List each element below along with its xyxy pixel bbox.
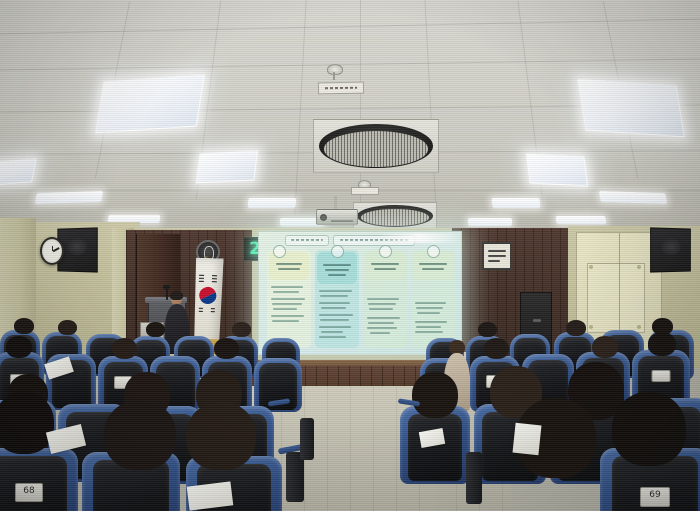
- wall-speaker-icon: [650, 227, 691, 272]
- ac-diffuser-icon: [353, 202, 437, 230]
- ceiling-light-panel: [526, 154, 588, 187]
- projection-screen: projected presentation slide: [258, 231, 462, 355]
- wall-clock-icon: [40, 237, 64, 265]
- projector-mount: [334, 196, 337, 210]
- slide-tab-1: [285, 235, 329, 246]
- attendee: [146, 322, 165, 337]
- attendee: [648, 332, 676, 356]
- attendee: [6, 336, 32, 358]
- ceiling-light-panel: [491, 198, 540, 208]
- ceiling: suspended panel ceiling: [0, 0, 700, 245]
- ceiling-light-panel: [468, 218, 512, 226]
- ceiling-label: suspended panel ceiling: [0, 0, 1, 1]
- slide-column-2: [315, 250, 359, 348]
- attendee: [112, 338, 137, 359]
- seat[interactable]: 68: [0, 448, 78, 511]
- seat-number-plate: 68: [15, 483, 43, 502]
- attendee: [592, 336, 618, 358]
- projector-icon: [316, 209, 358, 225]
- framed-wall-sign: [482, 242, 512, 270]
- lecture-hall-photo: suspended panel ceiling: [0, 0, 700, 511]
- ceiling-light-panel: [0, 158, 37, 186]
- attendee: [104, 400, 176, 470]
- attendee: [232, 322, 251, 337]
- ceiling-light-panel: [196, 151, 258, 184]
- attendee: [214, 338, 239, 359]
- ceiling-light-panel: [599, 191, 667, 204]
- slide-column-1: [267, 250, 311, 348]
- slide-column-4: [411, 250, 455, 348]
- attendee: [14, 318, 34, 334]
- slide-column-3: [363, 250, 407, 348]
- ceiling-light-panel: [247, 198, 296, 208]
- ceiling-light-panel: [35, 191, 103, 204]
- attendee: [484, 338, 509, 359]
- attendee: [566, 320, 586, 336]
- attendee: [478, 322, 497, 337]
- ceiling-light-panel: [95, 75, 205, 134]
- attendee: [612, 392, 686, 466]
- ceiling-sign: [351, 187, 379, 195]
- attendee: [186, 402, 256, 470]
- smoke-detector-icon: [327, 64, 343, 75]
- ceiling-light-panel: [577, 79, 685, 138]
- attendee: [58, 320, 77, 335]
- handout[interactable]: [513, 423, 542, 456]
- ac-diffuser-icon: [313, 119, 439, 173]
- ceiling-sign: [318, 82, 364, 95]
- ceiling-light-panel: [555, 216, 606, 224]
- seat-number-plate: 69: [640, 487, 670, 507]
- attendee: [0, 392, 54, 454]
- attendee: [412, 372, 458, 418]
- seat-number-plate: [652, 370, 671, 383]
